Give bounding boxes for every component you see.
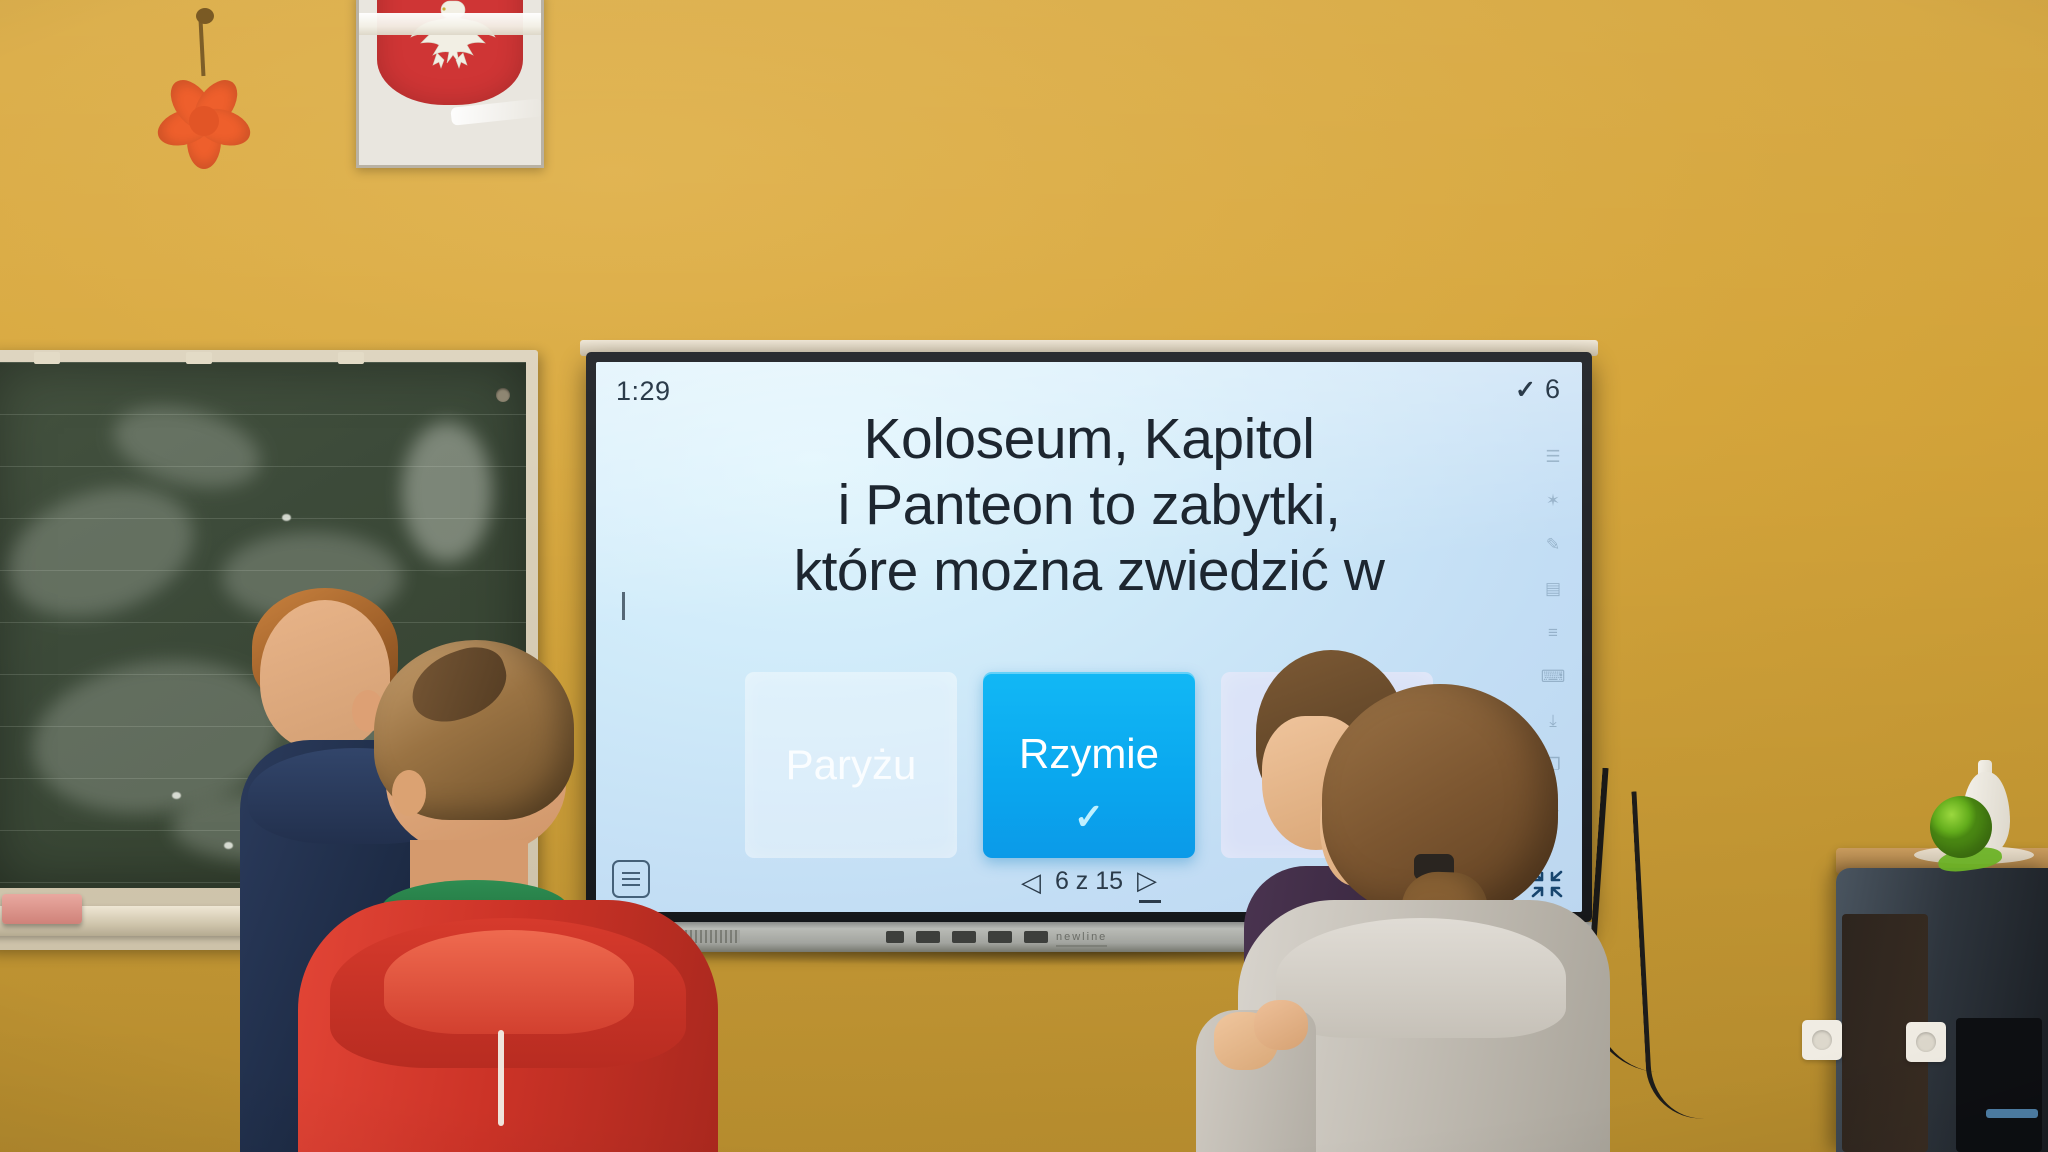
board-clip bbox=[338, 352, 364, 364]
board-clip bbox=[34, 352, 60, 364]
cabinet-window bbox=[1956, 1018, 2042, 1152]
eraser-tool-icon[interactable]: ▤ bbox=[1541, 578, 1565, 600]
next-slide-underline bbox=[1139, 900, 1161, 903]
score-indicator: ✓ 6 bbox=[1515, 374, 1560, 405]
answer-label: Paryżu bbox=[786, 741, 917, 789]
green-decorative-ball bbox=[1930, 796, 1992, 858]
check-icon: ✓ bbox=[1515, 375, 1536, 405]
star-tool-icon[interactable]: ✶ bbox=[1541, 490, 1565, 512]
orange-flower-icon bbox=[148, 68, 260, 174]
board-eraser bbox=[2, 894, 82, 924]
answer-option-paryzu[interactable]: Paryżu bbox=[745, 672, 957, 858]
screenshot-root: 1:29 ✓ 6 Koloseum, Kapitol i Panteon to … bbox=[0, 0, 2048, 1152]
flower-knot bbox=[196, 8, 214, 24]
next-slide-button[interactable]: ▷ bbox=[1137, 867, 1157, 896]
question-line-3: które można zwiedzić w bbox=[666, 538, 1512, 604]
wall-power-outlet[interactable] bbox=[1802, 1020, 1842, 1060]
question-text: Koloseum, Kapitol i Panteon to zabytki, … bbox=[596, 406, 1582, 604]
polish-coat-of-arms-poster bbox=[356, 0, 544, 168]
pen-tool-icon[interactable]: ✎ bbox=[1541, 534, 1565, 556]
hand bbox=[1254, 1000, 1308, 1050]
quiz-timer: 1:29 bbox=[616, 376, 671, 407]
correct-check-icon: ✓ bbox=[983, 796, 1195, 838]
menu-tool-icon[interactable]: ☰ bbox=[1541, 446, 1565, 468]
display-brand-label: newline bbox=[1056, 931, 1107, 947]
ear bbox=[392, 770, 426, 816]
lines-tool-icon[interactable]: ≡ bbox=[1541, 622, 1565, 644]
answer-label: Rzymie bbox=[983, 730, 1195, 778]
board-screw bbox=[496, 388, 510, 402]
hood-inner bbox=[384, 930, 634, 1034]
prev-slide-icon[interactable]: ◁ bbox=[1021, 869, 1041, 895]
keyboard-tool-icon[interactable]: ⌨ bbox=[1541, 666, 1565, 688]
cabinet-handle[interactable] bbox=[1986, 1109, 2038, 1118]
white-eagle-icon bbox=[394, 0, 506, 73]
next-slide-icon[interactable]: ▷ bbox=[1137, 865, 1157, 895]
score-value: 6 bbox=[1545, 374, 1560, 405]
question-line-2: i Panteon to zabytki, bbox=[666, 472, 1512, 538]
poster-light-reflection bbox=[359, 13, 541, 35]
hood bbox=[1276, 918, 1566, 1038]
download-tool-icon[interactable]: ⤓ bbox=[1541, 710, 1565, 732]
wall-power-outlet[interactable] bbox=[1906, 1022, 1946, 1062]
hoodie-drawstring bbox=[498, 1030, 504, 1126]
board-clip bbox=[186, 352, 212, 364]
question-line-1: Koloseum, Kapitol bbox=[666, 406, 1512, 472]
dark-cabinet bbox=[1836, 868, 2048, 1152]
slide-counter-label: 6 z 15 bbox=[1055, 867, 1123, 896]
answer-option-rzymie[interactable]: Rzymie ✓ bbox=[983, 672, 1195, 858]
